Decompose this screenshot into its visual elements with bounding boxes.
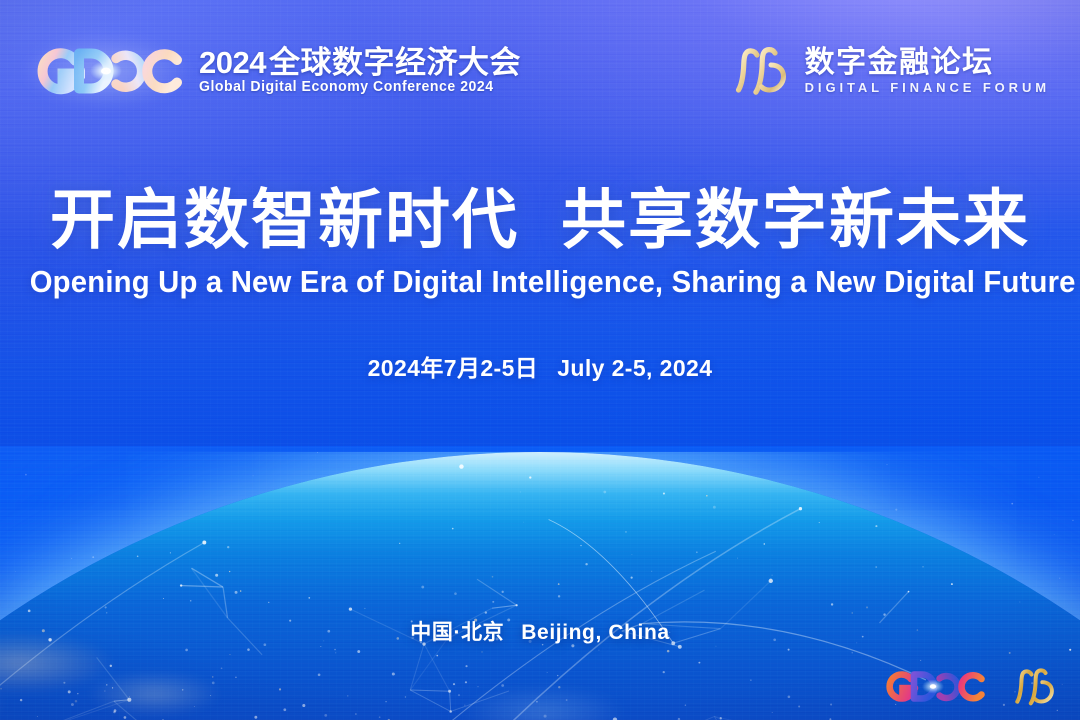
footer-gdec-logo-icon: [884, 667, 988, 707]
event-date-cn: 2024年7月2-5日: [368, 355, 539, 381]
ff-monogram-icon: [734, 44, 792, 98]
footer-logo-group: [884, 666, 1058, 708]
gdec-title-year: 2024: [199, 45, 266, 80]
event-location: 中国·北京Beijing, China: [0, 616, 1080, 646]
main-title-cn-part1: 开启数智新时代: [50, 183, 519, 256]
gdec-logo-lockup: 2024全球数字经济大会 Global Digital Economy Conf…: [34, 42, 521, 100]
gdec-logo-text: 2024全球数字经济大会 Global Digital Economy Conf…: [199, 47, 521, 96]
main-title-cn: 开启数智新时代共享数字新未来: [0, 186, 1080, 255]
hero-block: 开启数智新时代共享数字新未来 Opening Up a New Era of D…: [0, 186, 1080, 383]
event-location-cn: 中国·北京: [410, 621, 504, 644]
header: 2024全球数字经济大会 Global Digital Economy Conf…: [0, 0, 1080, 140]
conference-backdrop: 2024全球数字经济大会 Global Digital Economy Conf…: [0, 0, 1080, 720]
event-date-en: July 2-5, 2024: [557, 355, 712, 381]
footer-ff-monogram-icon: [1014, 666, 1058, 708]
gdec-title-en: Global Digital Economy Conference 2024: [199, 79, 511, 95]
dff-logo-lockup: 数字金融论坛 DIGITAL FINANCE FORUM: [734, 44, 1050, 98]
gdec-title-cn: 2024全球数字经济大会: [199, 47, 521, 79]
main-title-en: Opening Up a New Era of Digital Intellig…: [30, 264, 1051, 300]
gdec-logo-halo: [24, 32, 196, 110]
dff-title-en: DIGITAL FINANCE FORUM: [805, 80, 1050, 95]
gdec-logo-icon: [34, 42, 186, 100]
dff-logo-text: 数字金融论坛 DIGITAL FINANCE FORUM: [805, 47, 1050, 95]
event-location-en: Beijing, China: [521, 621, 669, 644]
dff-title-cn: 数字金融论坛: [805, 47, 994, 78]
event-date: 2024年7月2-5日July 2-5, 2024: [0, 349, 1080, 383]
main-title-cn-part2: 共享数字新未来: [561, 183, 1030, 256]
gdec-title-cn-text: 全球数字经济大会: [269, 45, 521, 80]
